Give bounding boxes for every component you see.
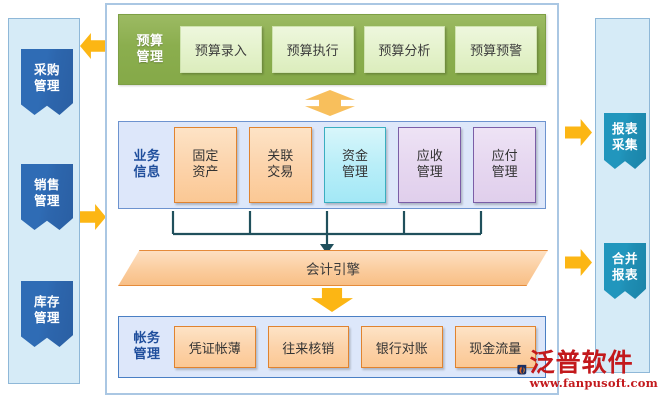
module-card-purchasing[interactable]: 采购 管理 — [21, 49, 73, 115]
business-information-label: 业务 信息 — [126, 149, 168, 180]
business-cell-fixed-assets[interactable]: 固定 资产 — [174, 127, 237, 203]
module-card-inventory-line1: 库存 — [34, 294, 60, 310]
module-card-sales-line1: 销售 — [34, 177, 60, 193]
ledger-management-label: 帐务 管理 — [126, 331, 168, 362]
ledger-cell-cash-flow[interactable]: 现金流量 — [455, 326, 537, 368]
ledger-management-band: 帐务 管理 凭证帐薄 往来核销 银行对账 现金流量 — [118, 316, 546, 378]
ledger-cell-bank-statement[interactable]: 银行对账 — [361, 326, 443, 368]
module-card-report-collection-line2: 采集 — [612, 137, 638, 153]
accounting-engine-block[interactable]: 会计引擎 — [118, 250, 548, 286]
upstream-modules-panel: 采购 管理 销售 管理 库存 管理 — [8, 18, 80, 384]
module-card-report-collection[interactable]: 报表 采集 — [604, 113, 646, 169]
module-card-inventory[interactable]: 库存 管理 — [21, 281, 73, 347]
module-card-inventory-line2: 管理 — [34, 310, 60, 326]
budget-management-label: 预算 管理 — [125, 34, 175, 65]
module-card-consolidated-report[interactable]: 合并 报表 — [604, 243, 646, 299]
module-card-purchasing-line2: 管理 — [34, 78, 60, 94]
business-cell-receivables[interactable]: 应收 管理 — [398, 127, 461, 203]
arrow-to-consolidated-report-icon — [565, 249, 592, 276]
business-cell-fund-management[interactable]: 资金 管理 — [324, 127, 387, 203]
module-card-consolidated-report-line2: 报表 — [612, 267, 638, 283]
budget-management-band: 预算 管理 预算录入 预算执行 预算分析 预算预警 — [118, 14, 546, 85]
budget-cell-alert[interactable]: 预算预警 — [455, 26, 537, 73]
arrow-to-report-collection-icon — [565, 119, 592, 146]
module-card-sales-line2: 管理 — [34, 193, 60, 209]
budget-cell-analysis[interactable]: 预算分析 — [364, 26, 446, 73]
business-information-band: 业务 信息 固定 资产 关联 交易 资金 管理 应收 管理 应付 管理 — [118, 121, 546, 209]
ledger-cell-vouchers[interactable]: 凭证帐薄 — [174, 326, 256, 368]
module-card-sales[interactable]: 销售 管理 — [21, 164, 73, 230]
reporting-modules-panel: 报表 采集 合并 报表 — [595, 18, 650, 373]
business-cell-payables[interactable]: 应付 管理 — [473, 127, 536, 203]
arrow-to-purchasing-icon — [80, 33, 106, 59]
module-card-purchasing-line1: 采购 — [34, 62, 60, 78]
module-card-report-collection-line1: 报表 — [612, 121, 638, 137]
budget-cell-entry[interactable]: 预算录入 — [180, 26, 262, 73]
business-cell-related-transactions[interactable]: 关联 交易 — [249, 127, 312, 203]
module-card-consolidated-report-line1: 合并 — [612, 251, 638, 267]
budget-cell-execute[interactable]: 预算执行 — [272, 26, 354, 73]
ledger-cell-reconciliation[interactable]: 往来核销 — [268, 326, 350, 368]
arrow-from-sales-icon — [80, 204, 106, 230]
